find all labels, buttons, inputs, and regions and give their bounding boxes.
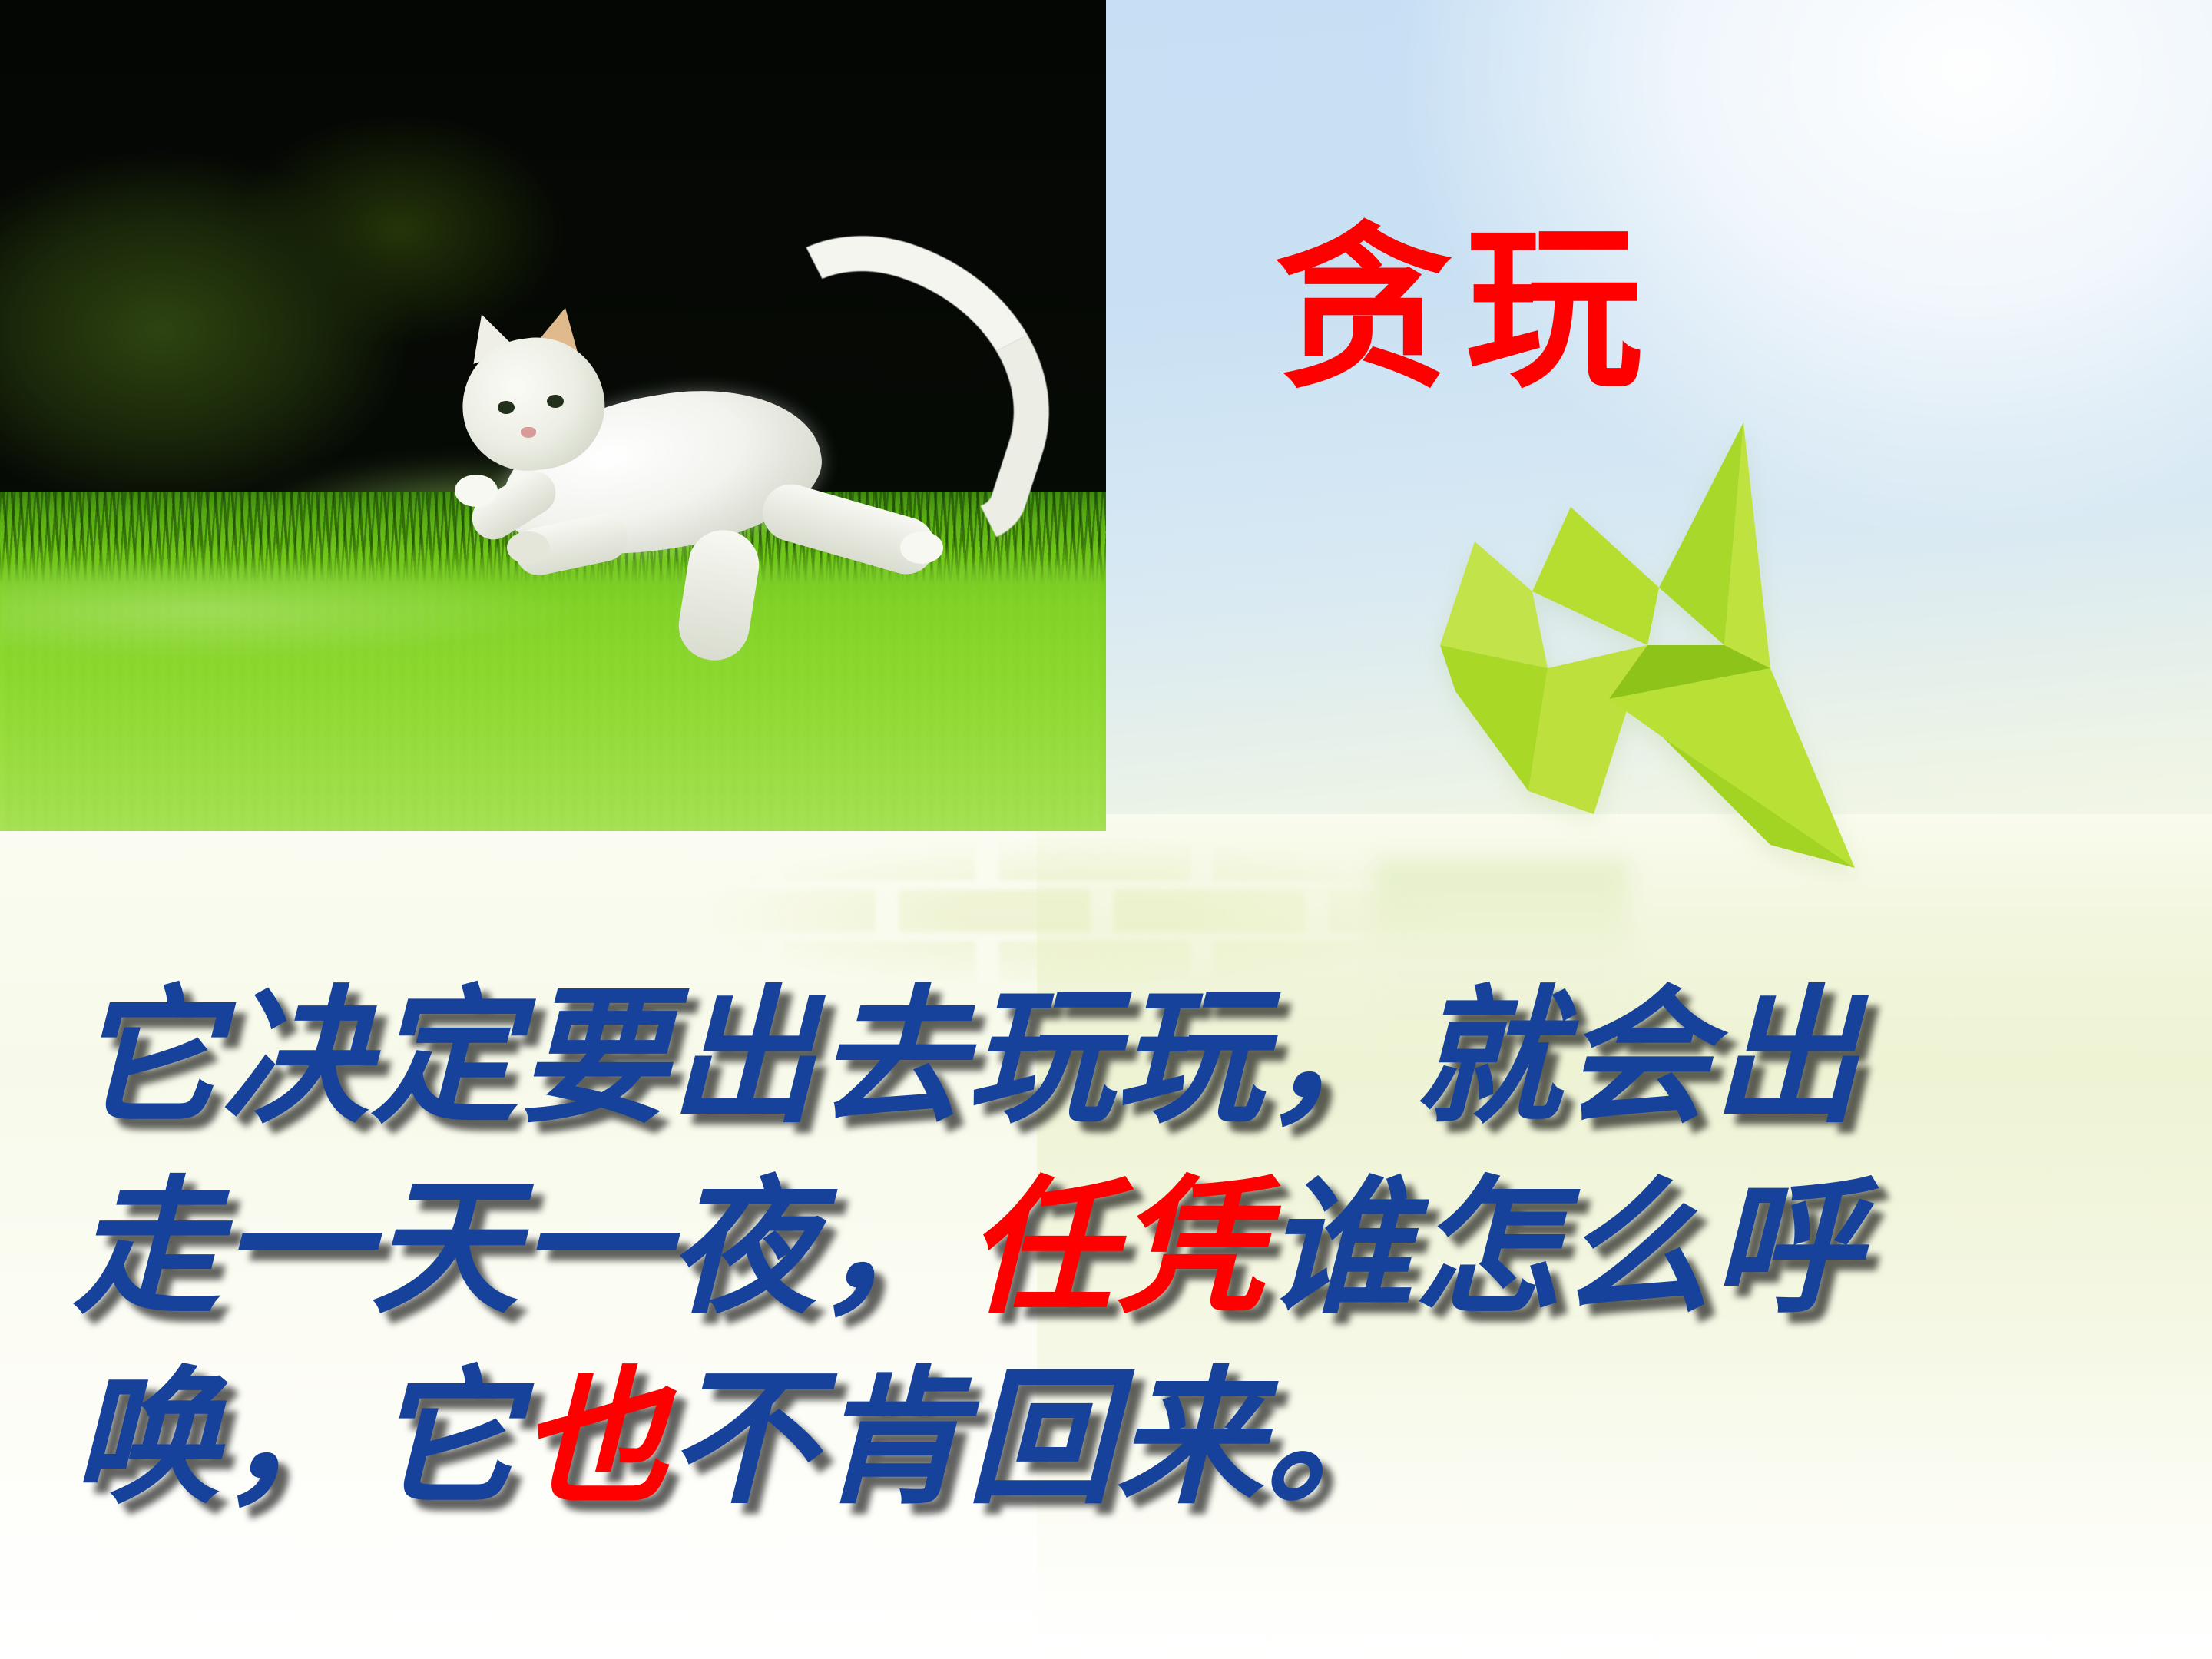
cat-paw-1: [455, 475, 498, 507]
cat-paw-2: [507, 531, 550, 564]
page-title: 贪玩: [1275, 223, 1656, 399]
body-text-run: 走一天一夜，: [73, 1167, 967, 1331]
cat-eye-right: [547, 395, 564, 408]
body-text-line-3: 唤，它也不肯回来。: [73, 1345, 2162, 1535]
cat-figure: [430, 230, 1014, 707]
cat-back-left-leg: [674, 525, 763, 665]
cat-paw-3: [900, 531, 943, 564]
body-text-run: 不肯回来。: [669, 1358, 1414, 1522]
body-text-run: 谁怎么呼: [1265, 1167, 1861, 1331]
body-text-run: 它决定要出去玩玩，就会出: [73, 977, 1861, 1141]
body-text-block: 它决定要出去玩玩，就会出 走一天一夜，任凭谁怎么呼 唤，它也不肯回来。: [73, 964, 2162, 1535]
slide-canvas: 贪玩 它决定要出去玩玩，就会出 走一天一夜，任凭谁怎么呼 唤，它也不肯回来。: [0, 0, 2212, 1659]
cat-nose: [521, 427, 536, 438]
highlighted-word: 也: [520, 1358, 669, 1522]
cat-photo: [0, 0, 1106, 831]
body-text-line-2: 走一天一夜，任凭谁怎么呼: [73, 1154, 2162, 1345]
cat-eye-left: [498, 401, 515, 414]
body-text-line-1: 它决定要出去玩玩，就会出: [73, 964, 2162, 1154]
body-text-run: 唤，它: [73, 1358, 520, 1522]
highlighted-word: 任凭: [967, 1167, 1265, 1331]
origami-crane-icon: [1340, 415, 1863, 906]
